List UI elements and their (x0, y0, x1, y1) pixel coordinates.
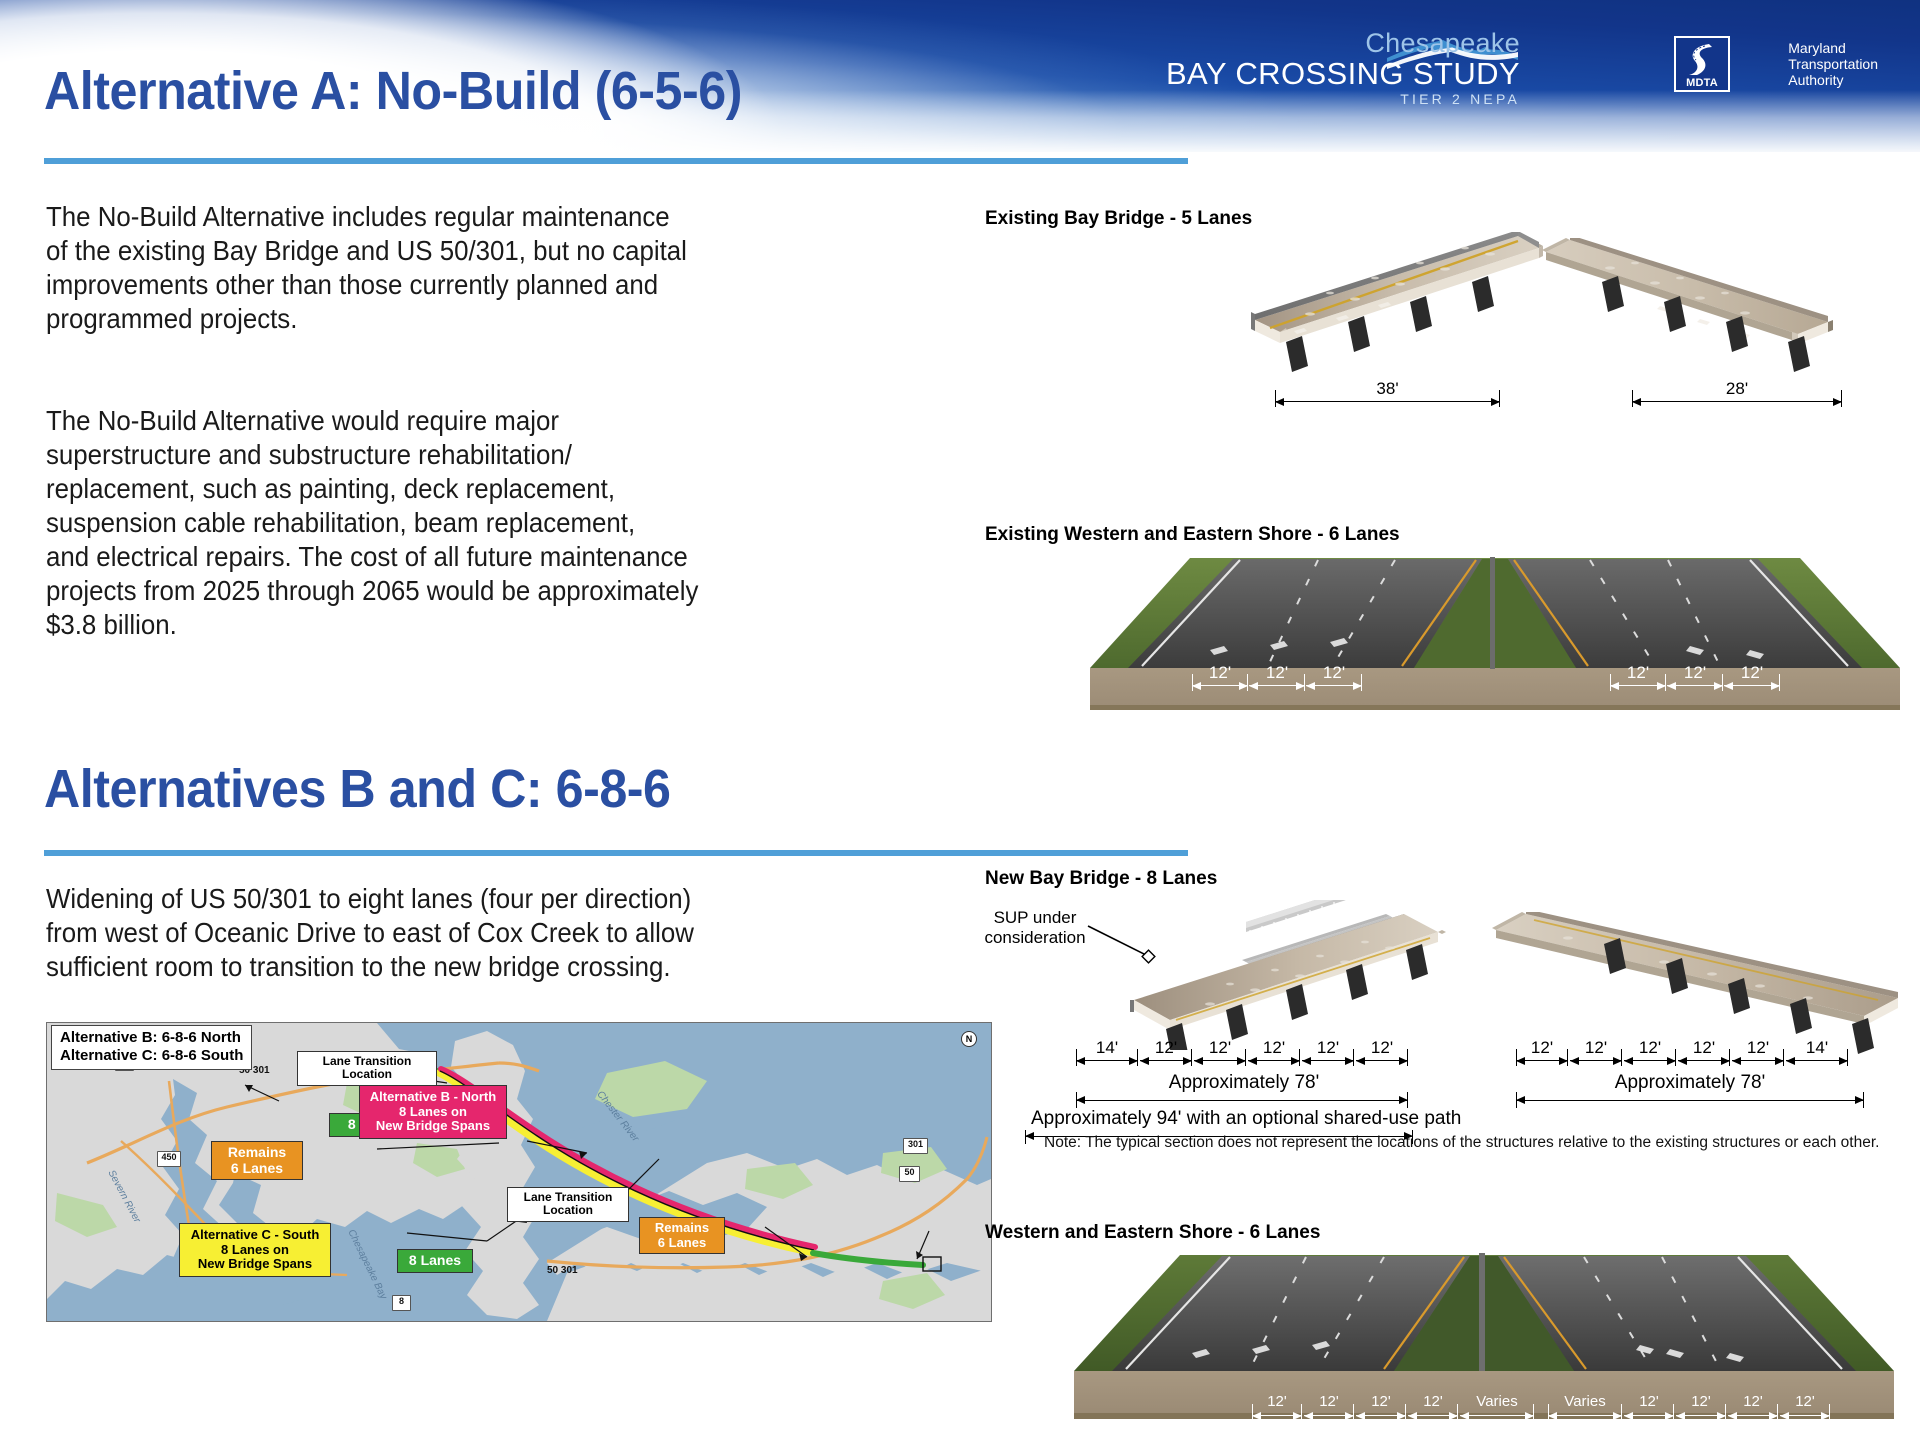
dimension-label: 12' (1408, 1393, 1458, 1410)
logo-line-chesapeake: Chesapeake (1166, 30, 1520, 57)
paragraph-line: The No-Build Alternative includes regula… (46, 200, 687, 234)
overall-label-east-approximately-78: Approximately 78' (1582, 1072, 1798, 1094)
dimension-label: 12' (1624, 1393, 1674, 1410)
dimension-label: 12' (1302, 1038, 1354, 1058)
dimension-label: 12' (1306, 663, 1362, 683)
paragraph-line: and electrical repairs. The cost of all … (46, 540, 698, 574)
dimension-label: 12' (1624, 1038, 1676, 1058)
map-callout-lane-transition-west: Lane Transition Location (297, 1051, 437, 1086)
paragraph-line: The No-Build Alternative would require m… (46, 404, 698, 438)
dimension-label: 12' (1732, 1038, 1784, 1058)
dimension-label: 28' (1632, 379, 1842, 399)
route-label-50-301-east: 50 301 (547, 1265, 578, 1276)
new-bridge-span-west (1010, 900, 1490, 1050)
paragraph-line: improvements other than those currently … (46, 268, 687, 302)
paragraph-a-2: The No-Build Alternative would require m… (46, 404, 698, 642)
alternatives-map[interactable]: Alternative B: 6-8-6 North Alternative C… (46, 1022, 992, 1322)
logo-line-tier2-nepa: TIER 2 NEPA (1166, 92, 1520, 106)
mdta-abbrev-label: MDTA (1676, 77, 1728, 89)
paragraph-line: from west of Oceanic Drive to east of Co… (46, 916, 694, 950)
dimension-label: 12' (1724, 663, 1780, 683)
dimension-label: 12' (1252, 1393, 1302, 1410)
logo-line-bay-crossing-study: BAY CROSSING STUDY (1166, 58, 1520, 89)
dimension-row-new-bridge-west: 14' 12' 12' 12' 12' 12' (1076, 1040, 1408, 1066)
overall-label-approximately-94: Approximately 94' with an optional share… (1025, 1108, 1413, 1130)
paragraph-line: of the existing Bay Bridge and US 50/301… (46, 234, 687, 268)
dimension-row-new-bridge-east: 12' 12' 12' 12' 12' 14' (1516, 1040, 1848, 1066)
paragraph-line: $3.8 billion. (46, 608, 698, 642)
overall-bar-new-bridge-east-78 (1516, 1092, 1864, 1108)
map-callout-remains-6-lanes-east: Remains 6 Lanes (639, 1217, 725, 1254)
paragraph-line: programmed projects. (46, 302, 687, 336)
dimension-label: 12' (1667, 663, 1723, 683)
dimension-label: 12' (1678, 1038, 1730, 1058)
dimension-row-new-shore-left: 12' 12' 12' 12' Varies (1252, 1395, 1534, 1419)
dimension-label: 12' (1516, 1038, 1568, 1058)
dimension-row-existing-bridge-east: 28' (1632, 381, 1842, 407)
paragraph-a-1: The No-Build Alternative includes regula… (46, 200, 687, 336)
existing-bridge-span-west (1250, 232, 1550, 382)
route-shield-md-450: 450 (157, 1151, 181, 1167)
dimension-label: Varies (1460, 1393, 1534, 1410)
section-title-alternatives-bc: Alternatives B and C: 6-8-6 (44, 758, 671, 820)
dimension-label: Varies (1548, 1393, 1622, 1410)
dimension-label: 14' (1786, 1038, 1848, 1058)
dimension-label: 12' (1140, 1038, 1192, 1058)
mdta-agency-name-text: MarylandTransportationAuthority (1788, 40, 1878, 88)
dimension-label: 12' (1356, 1038, 1408, 1058)
dimension-row-existing-bridge-west: 38' (1275, 381, 1500, 407)
map-title-box: Alternative B: 6-8-6 North Alternative C… (51, 1025, 252, 1070)
figure-heading-new-bay-bridge: New Bay Bridge - 8 Lanes (985, 868, 1217, 890)
route-shield-md-8: 8 (392, 1295, 411, 1311)
dimension-label: 12' (1192, 663, 1248, 683)
figure-heading-existing-bay-bridge: Existing Bay Bridge - 5 Lanes (985, 208, 1252, 230)
map-callout-alternative-b-north: Alternative B - North 8 Lanes on New Bri… (359, 1085, 507, 1139)
figure-note-new-bay-bridge: Note: The typical section does not repre… (1044, 1134, 1879, 1152)
dimension-label: 12' (1780, 1393, 1830, 1410)
map-callout-alternative-c-south: Alternative C - South 8 Lanes on New Bri… (179, 1223, 331, 1277)
overall-bar-new-bridge-78 (1076, 1092, 1408, 1108)
dimension-label: 12' (1248, 1038, 1300, 1058)
dimension-row-existing-shore-left: 12' 12' 12' (1192, 665, 1362, 691)
infographic-page: Chesapeake BAY CROSSING STUDY TIER 2 NEP… (0, 0, 1920, 1440)
section-title-alternative-a: Alternative A: No-Build (6-5-6) (44, 60, 742, 122)
dimension-label: 12' (1676, 1393, 1726, 1410)
mdta-logo: MDTA (1674, 36, 1730, 92)
study-logo: Chesapeake BAY CROSSING STUDY TIER 2 NEP… (1166, 30, 1520, 106)
dimension-label: 38' (1275, 379, 1500, 399)
dimension-label: 12' (1610, 663, 1666, 683)
map-callout-lane-transition-east: Lane Transition Location (507, 1187, 629, 1222)
paragraph-bc-1: Widening of US 50/301 to eight lanes (fo… (46, 882, 694, 984)
paragraph-line: Widening of US 50/301 to eight lanes (fo… (46, 882, 694, 916)
existing-bridge-span-east (1540, 238, 1840, 388)
dimension-label: 14' (1076, 1038, 1138, 1058)
dimension-label: 12' (1356, 1393, 1406, 1410)
mdta-road-icon (1685, 42, 1719, 77)
paragraph-line: superstructure and substructure rehabili… (46, 438, 698, 472)
route-shield-us-301-east: 301 (903, 1138, 928, 1154)
paragraph-line: suspension cable rehabilitation, beam re… (46, 506, 698, 540)
map-callout-8-lanes-east: 8 Lanes (397, 1249, 473, 1273)
overall-label-approximately-78: Approximately 78' (1136, 1072, 1352, 1094)
section-rule-alternative-a (44, 158, 1188, 164)
dimension-label: 12' (1194, 1038, 1246, 1058)
figure-heading-new-shore: Western and Eastern Shore - 6 Lanes (985, 1222, 1320, 1244)
figure-heading-existing-shore: Existing Western and Eastern Shore - 6 L… (985, 524, 1400, 546)
dimension-label: 12' (1249, 663, 1305, 683)
dimension-row-existing-shore-right: 12' 12' 12' (1610, 665, 1780, 691)
dimension-row-new-shore-right: Varies 12' 12' 12' 12' (1548, 1395, 1830, 1419)
dimension-label: 12' (1570, 1038, 1622, 1058)
dimension-label: 12' (1728, 1393, 1778, 1410)
existing-shore-section (1090, 550, 1900, 720)
paragraph-line: projects from 2025 through 2065 would be… (46, 574, 698, 608)
mdta-agency-name: MarylandTransportationAuthority (1788, 40, 1878, 88)
map-callout-remains-6-lanes-west: Remains 6 Lanes (211, 1141, 303, 1180)
section-rule-alternatives-bc (44, 850, 1188, 856)
paragraph-line: sufficient room to transition to the new… (46, 950, 694, 984)
route-shield-us-50-east: 50 (899, 1166, 920, 1182)
compass-north-icon: N (961, 1031, 977, 1047)
paragraph-line: replacement, such as painting, deck repl… (46, 472, 698, 506)
dimension-label: 12' (1304, 1393, 1354, 1410)
